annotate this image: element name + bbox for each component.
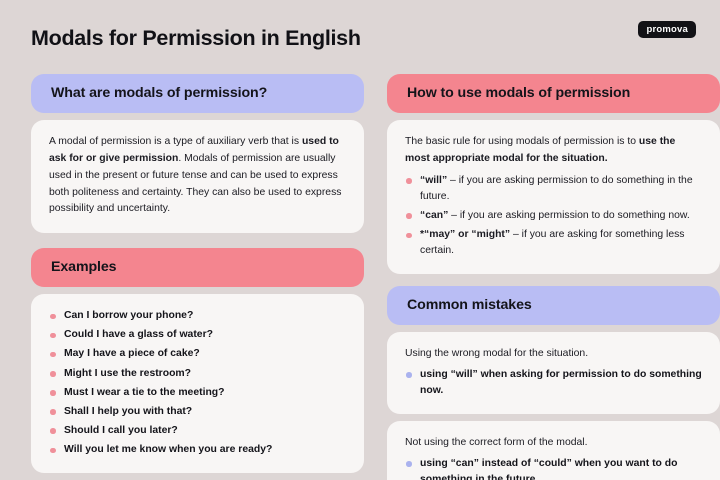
section-header-examples: Examples — [31, 248, 364, 287]
example-item: Could I have a glass of water? — [49, 327, 346, 343]
mistake-lead-text: Using the wrong modal for the situation. — [405, 346, 702, 362]
spacer — [31, 113, 364, 120]
example-item: Will you let me know when you are ready? — [49, 442, 346, 458]
spacer — [387, 414, 720, 421]
spacer — [387, 274, 720, 286]
common-mistakes-blocks: Using the wrong modal for the situation.… — [387, 332, 720, 480]
rule-description: – if you are asking permission to do som… — [420, 175, 693, 202]
brand-logo-badge: promova — [638, 21, 696, 38]
section-header-common-mistakes: Common mistakes — [387, 286, 720, 325]
spacer — [31, 233, 364, 248]
examples-list: Can I borrow your phone?Could I have a g… — [49, 308, 346, 458]
section-header-how-to-use: How to use modals of permission — [387, 74, 720, 113]
examples-card: Can I borrow your phone?Could I have a g… — [31, 294, 364, 473]
common-mistake-card: Using the wrong modal for the situation.… — [387, 332, 720, 414]
how-to-use-rules-list: “will” – if you are asking permission to… — [405, 173, 702, 260]
how-to-use-intro: The basic rule for using modals of permi… — [405, 134, 702, 168]
definition-paragraph: A modal of permission is a type of auxil… — [49, 134, 346, 218]
mistake-lead-text: Not using the correct form of the modal. — [405, 435, 702, 451]
rule-item: “can” – if you are asking permission to … — [405, 208, 702, 224]
rule-modal: “will” — [420, 175, 447, 186]
mistake-list: using “can” instead of “could” when you … — [405, 456, 702, 480]
rule-item: “will” – if you are asking permission to… — [405, 173, 702, 205]
example-item: May I have a piece of cake? — [49, 346, 346, 362]
mistake-item: using “can” instead of “could” when you … — [405, 456, 702, 480]
rule-description: – if you are asking permission to do som… — [448, 210, 689, 221]
example-item: Should I call you later? — [49, 423, 346, 439]
spacer — [387, 113, 720, 120]
page-title: Modals for Permission in English — [31, 26, 361, 51]
rule-modal: *“may” or “might” — [420, 229, 510, 240]
spacer — [387, 325, 720, 332]
definition-card: A modal of permission is a type of auxil… — [31, 120, 364, 233]
example-item: Shall I help you with that? — [49, 404, 346, 420]
example-item: Might I use the restroom? — [49, 366, 346, 382]
common-mistake-card: Not using the correct form of the modal.… — [387, 421, 720, 480]
how-to-use-intro-part1: The basic rule for using modals of permi… — [405, 136, 639, 147]
section-header-what-are-modals: What are modals of permission? — [31, 74, 364, 113]
mistake-list: using “will” when asking for permission … — [405, 367, 702, 399]
right-column: How to use modals of permission The basi… — [387, 74, 720, 480]
mistake-item: using “will” when asking for permission … — [405, 367, 702, 399]
rule-item: *“may” or “might” – if you are asking fo… — [405, 227, 702, 259]
left-column: What are modals of permission? A modal o… — [31, 74, 364, 473]
rule-modal: “can” — [420, 210, 448, 221]
how-to-use-card: The basic rule for using modals of permi… — [387, 120, 720, 274]
example-item: Must I wear a tie to the meeting? — [49, 385, 346, 401]
example-item: Can I borrow your phone? — [49, 308, 346, 324]
definition-text-part1: A modal of permission is a type of auxil… — [49, 136, 302, 147]
spacer — [31, 287, 364, 294]
